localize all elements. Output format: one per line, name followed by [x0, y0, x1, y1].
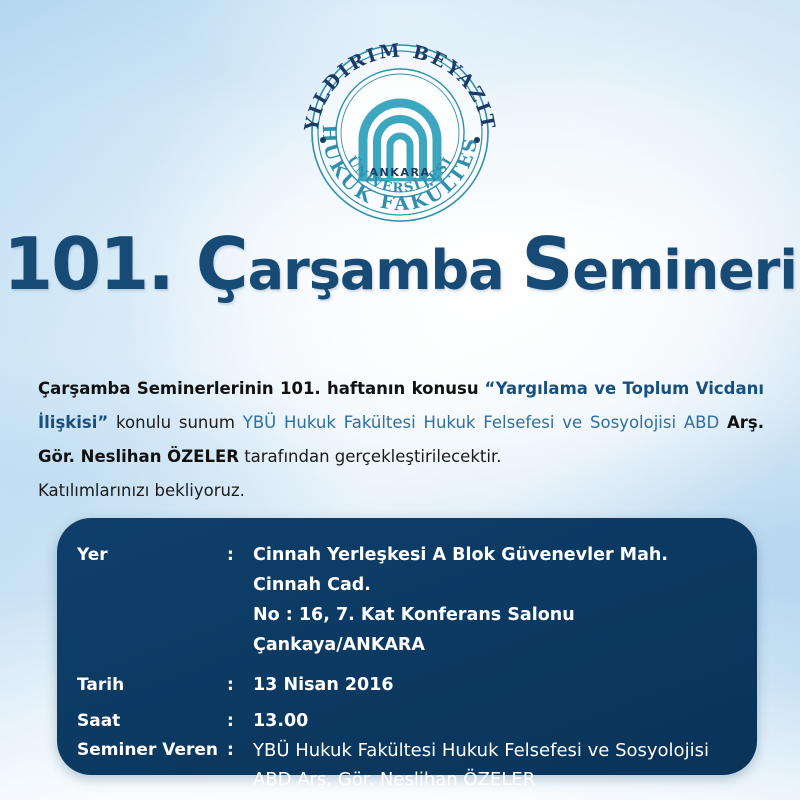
- detail-value-yer-line2: No : 16, 7. Kat Konferans Salonu Çankaya…: [253, 600, 731, 660]
- title-word2-cap: S: [521, 222, 572, 306]
- announcement-paragraph: Çarşamba Seminerlerinin 101. haftanın ko…: [38, 372, 764, 508]
- detail-value-veren-line2: ABD Arş. Gör. Neslihan ÖZELER: [253, 765, 731, 794]
- detail-label-yer: Yer: [77, 540, 227, 672]
- paragraph-seg-intro: Çarşamba Seminerlerinin 101. haftanın ko…: [38, 379, 479, 398]
- detail-value-saat: 13.00: [253, 708, 731, 736]
- event-details-table: Yer : Cinnah Yerleşkesi A Blok Güvenevle…: [77, 540, 731, 794]
- paragraph-seg-department: YBÜ Hukuk Fakültesi Hukuk Felsefesi ve S…: [243, 413, 719, 432]
- university-logo: ANKARA YILDIRIM BEYAZIT ÜNİVERSİTESİ HUK…: [295, 28, 505, 228]
- detail-value-seminer-veren: YBÜ Hukuk Fakültesi Hukuk Felsefesi ve S…: [253, 736, 731, 794]
- detail-value-yer-line1: Cinnah Yerleşkesi A Blok Güvenevler Mah.…: [253, 545, 668, 595]
- page-title: 101. Çarşamba Semineri: [0, 228, 800, 300]
- paragraph-seg-konulu: konulu sunum: [116, 413, 235, 432]
- event-details-box: Yer : Cinnah Yerleşkesi A Blok Güvenevle…: [57, 518, 757, 775]
- paragraph-seg-tail: tarafından gerçekleştirilecektir.: [244, 447, 501, 466]
- table-row: Yer : Cinnah Yerleşkesi A Blok Güvenevle…: [77, 540, 731, 672]
- detail-separator: :: [227, 672, 253, 708]
- title-number: 101.: [3, 222, 173, 306]
- detail-value-veren-line1: YBÜ Hukuk Fakültesi Hukuk Felsefesi ve S…: [253, 740, 709, 761]
- title-word2-rest: emineri: [572, 239, 797, 302]
- detail-value-yer: Cinnah Yerleşkesi A Blok Güvenevler Mah.…: [253, 540, 731, 672]
- table-row: Saat : 13.00: [77, 708, 731, 736]
- table-row: Seminer Veren : YBÜ Hukuk Fakültesi Huku…: [77, 736, 731, 794]
- title-word1-rest: arşamba: [248, 239, 504, 302]
- announcement-body: Çarşamba Seminerlerinin 101. haftanın ko…: [38, 372, 764, 474]
- detail-label-seminer-veren: Seminer Veren: [77, 736, 227, 794]
- seminar-poster: ANKARA YILDIRIM BEYAZIT ÜNİVERSİTESİ HUK…: [0, 0, 800, 800]
- detail-separator: :: [227, 540, 253, 672]
- detail-value-tarih: 13 Nisan 2016: [253, 672, 731, 708]
- detail-separator: :: [227, 736, 253, 794]
- announcement-closing: Katılımlarınızı bekliyoruz.: [38, 474, 764, 508]
- table-row: Tarih : 13 Nisan 2016: [77, 672, 731, 708]
- title-word1-cap: Ç: [196, 222, 248, 306]
- detail-label-tarih: Tarih: [77, 672, 227, 708]
- detail-label-saat: Saat: [77, 708, 227, 736]
- detail-separator: :: [227, 708, 253, 736]
- paragraph-seg-closing: Katılımlarınızı bekliyoruz.: [38, 481, 245, 500]
